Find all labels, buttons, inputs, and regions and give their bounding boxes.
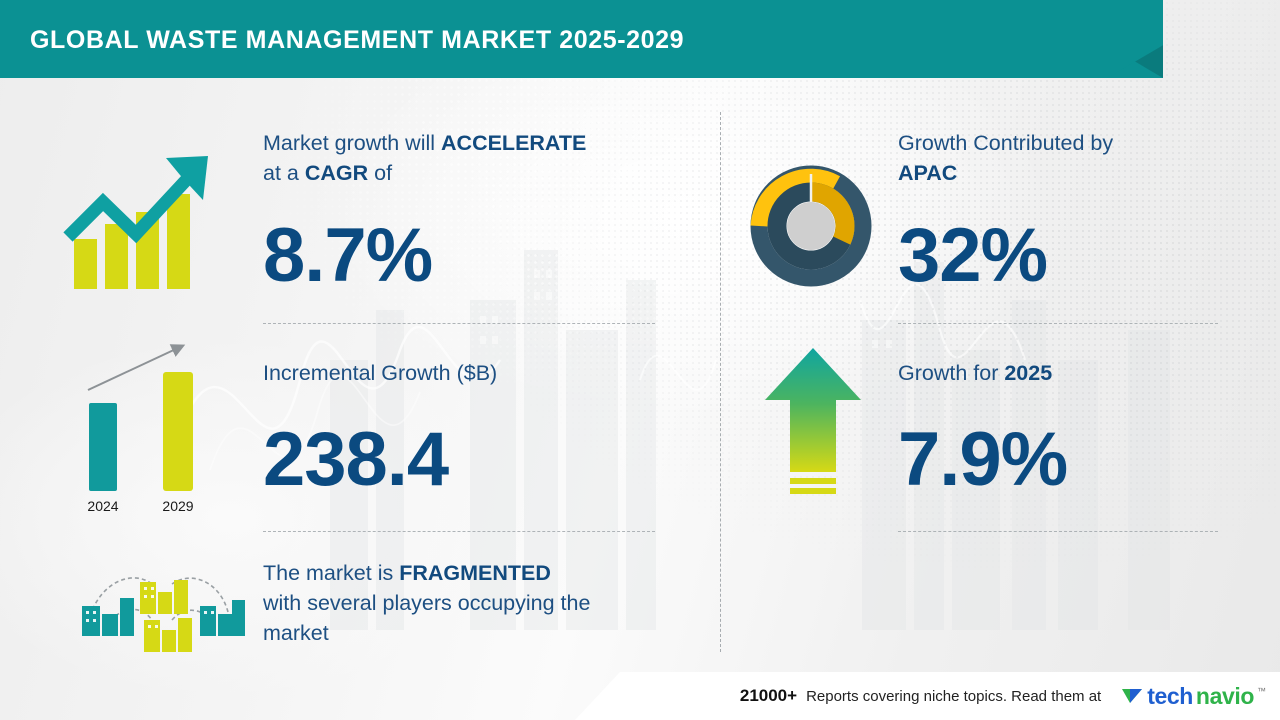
divider-right-1 — [898, 323, 1218, 324]
frag-line3: market — [263, 621, 329, 645]
report-count: 21000+ — [740, 686, 797, 706]
logo-trademark: ™ — [1257, 686, 1266, 696]
logo-text-tech: tech — [1147, 685, 1193, 708]
two-bar-comparison-icon: 2024 2029 — [62, 330, 222, 520]
frag-line1-pre: The market is — [263, 561, 399, 585]
apac-caption: Growth Contributed by APAC — [898, 128, 1228, 188]
year-growth-pre: Growth for — [898, 361, 1004, 385]
incremental-growth-value: 238.4 — [263, 422, 448, 498]
year-growth-bold: 2025 — [1004, 361, 1052, 385]
fragmented-caption: The market is FRAGMENTED with several pl… — [263, 558, 683, 648]
apac-line2-bold: APAC — [898, 161, 957, 185]
infographic-page: GLOBAL WASTE MANAGEMENT MARKET 2025-2029… — [0, 0, 1280, 720]
bar-label-2024: 2024 — [87, 498, 118, 514]
frag-line1-bold: FRAGMENTED — [399, 561, 551, 585]
incremental-growth-label: Incremental Growth ($B) — [263, 358, 663, 388]
footer-text: Reports covering niche topics. Read them… — [806, 688, 1101, 705]
footer-content: 21000+ Reports covering niche topics. Re… — [660, 672, 1280, 720]
frag-line2: with several players occupying the — [263, 591, 590, 615]
growth-bar-chart-arrow-icon — [62, 142, 222, 292]
cagr-line2-bold: CAGR — [305, 161, 368, 185]
technavio-logo[interactable]: technavio™ — [1120, 684, 1266, 708]
cagr-value: 8.7% — [263, 218, 432, 294]
cagr-line2-pre: at a — [263, 161, 305, 185]
divider-left-1 — [263, 323, 655, 324]
up-arrow-gradient-icon — [762, 344, 864, 504]
year-growth-caption: Growth for 2025 — [898, 358, 1228, 388]
bar-label-2029: 2029 — [162, 498, 193, 514]
cagr-line1-bold: ACCELERATE — [441, 131, 586, 155]
page-title: GLOBAL WASTE MANAGEMENT MARKET 2025-2029 — [30, 26, 684, 55]
apac-line1: Growth Contributed by — [898, 131, 1113, 155]
year-growth-value: 7.9% — [898, 422, 1067, 498]
technavio-mark-icon — [1120, 684, 1144, 708]
divider-right-2 — [898, 531, 1218, 532]
logo-text-navio: navio — [1196, 685, 1254, 708]
fragmented-market-buildings-icon — [68, 558, 248, 658]
cagr-caption: Market growth will ACCELERATE at a CAGR … — [263, 128, 663, 188]
divider-left-2 — [263, 531, 655, 532]
column-divider — [720, 112, 721, 652]
donut-chart-icon — [748, 163, 874, 289]
apac-value: 32% — [898, 218, 1047, 294]
cagr-line1-pre: Market growth will — [263, 131, 441, 155]
cagr-line2-post: of — [368, 161, 392, 185]
